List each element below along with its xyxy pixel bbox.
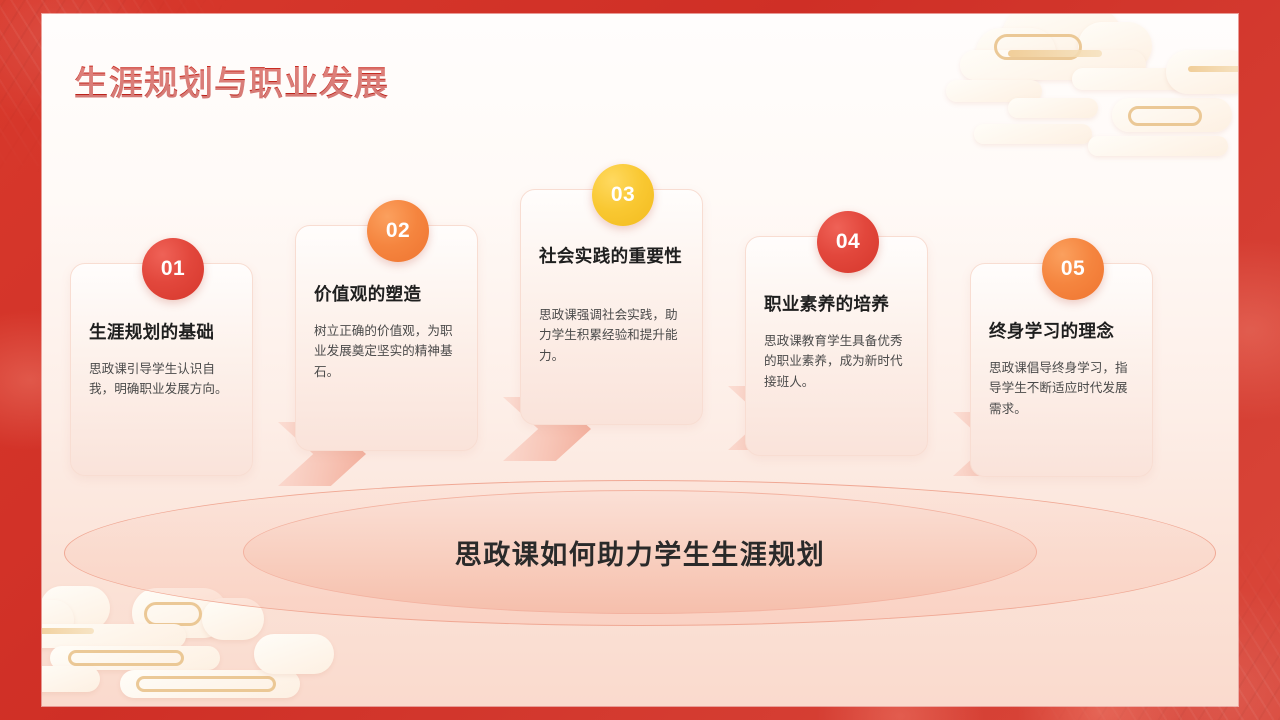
card-03-heading: 社会实践的重要性 xyxy=(539,245,690,267)
banner-title: 思政课如何助力学生生涯规划 xyxy=(243,490,1037,614)
page-title: 生涯规划与职业发展 xyxy=(74,56,389,105)
card-04-body: 思政课教育学生具备优秀的职业素养，成为新时代接班人。 xyxy=(764,331,913,392)
card-02-body: 树立正确的价值观，为职业发展奠定坚实的精神基石。 xyxy=(314,321,463,382)
card-02-number: 02 xyxy=(386,219,410,243)
card-05-number-badge: 05 xyxy=(1042,238,1104,300)
slide-background: 生涯规划与职业发展 思政课如何助力学生生涯规划 生涯规划的基础 思政课引导学生认… xyxy=(0,0,1280,720)
card-05-body: 思政课倡导终身学习，指导学生不断适应时代发展需求。 xyxy=(989,358,1138,419)
card-03-number-badge: 03 xyxy=(592,164,654,226)
card-03[interactable]: 社会实践的重要性 思政课强调社会实践，助力学生积累经验和提升能力。 xyxy=(520,189,703,425)
card-03-body: 思政课强调社会实践，助力学生积累经验和提升能力。 xyxy=(539,305,688,366)
card-04-heading: 职业素养的培养 xyxy=(764,293,915,315)
card-02-heading: 价值观的塑造 xyxy=(314,283,465,305)
card-01-body: 思政课引导学生认识自我，明确职业发展方向。 xyxy=(89,359,238,400)
card-05-number: 05 xyxy=(1061,257,1085,281)
card-03-number: 03 xyxy=(611,183,635,207)
card-04-number: 04 xyxy=(836,230,860,254)
card-04-number-badge: 04 xyxy=(817,211,879,273)
card-02-number-badge: 02 xyxy=(367,200,429,262)
card-01-heading: 生涯规划的基础 xyxy=(89,321,240,343)
cloud-decoration-top-right xyxy=(952,14,1238,181)
card-05-heading: 终身学习的理念 xyxy=(989,320,1140,342)
card-01-number: 01 xyxy=(161,257,185,281)
card-01-number-badge: 01 xyxy=(142,238,204,300)
slide-page: 生涯规划与职业发展 思政课如何助力学生生涯规划 生涯规划的基础 思政课引导学生认… xyxy=(42,14,1238,706)
